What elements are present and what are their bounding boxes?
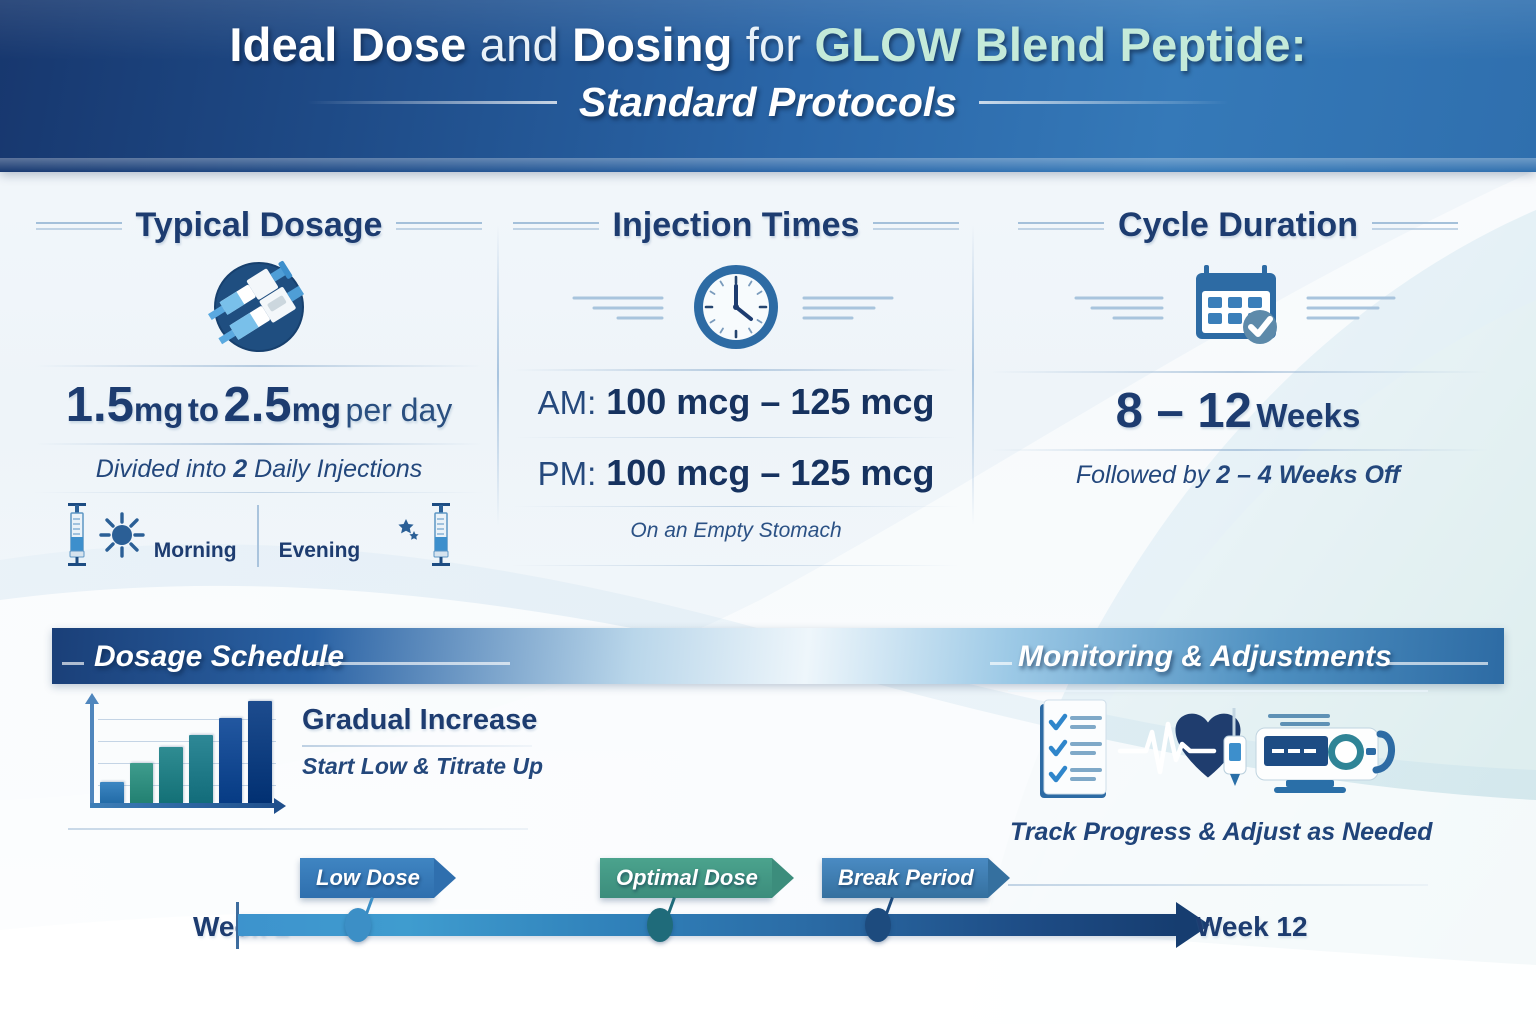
calendar-icon-row (988, 259, 1488, 355)
morning-group: Morning (50, 501, 251, 567)
bar (130, 763, 154, 804)
band-rule-far-left (62, 662, 84, 665)
cycle-duration-title: Cycle Duration (1118, 206, 1358, 245)
morning-evening-divider (257, 505, 259, 567)
title-block: Ideal Dose and Dosing for GLOW Blend Pep… (0, 20, 1536, 126)
main-title: Ideal Dose and Dosing for GLOW Blend Pep… (0, 20, 1536, 71)
evening-group: Evening (265, 501, 469, 567)
title-highlight: GLOW Blend Peptide: (815, 18, 1307, 71)
dosage-timeline: Week 1 Week 12 Low DoseOptimal DoseBreak… (0, 850, 1536, 970)
pm-label: PM: (538, 455, 597, 493)
gradual-increase-title: Gradual Increase (302, 704, 532, 737)
syringes-circle-icon (34, 259, 484, 355)
divider (34, 492, 484, 493)
heading-rule-left (1018, 222, 1104, 230)
syringe-icon (64, 501, 90, 567)
timeline-tag[interactable]: Break Period (822, 858, 988, 898)
dose-connector: to (188, 391, 219, 428)
bar (100, 782, 124, 804)
heading-rule-left (513, 222, 599, 230)
schedule-text-block: Gradual Increase Start Low & Titrate Up (302, 704, 532, 780)
timeline-tag[interactable]: Low Dose (300, 858, 434, 898)
dose-low-number: 1.5 (66, 378, 134, 432)
band-rule-left (310, 662, 510, 665)
speed-lines-left (566, 289, 676, 325)
schedule-underline (68, 828, 528, 830)
subtitle-rule-left (307, 101, 557, 104)
am-value: 100 mcg – 125 mcg (606, 381, 934, 423)
divider (512, 565, 960, 566)
timeline-dot[interactable] (647, 908, 673, 942)
title-part1: Ideal Dose (229, 18, 466, 71)
speed-lines-right (796, 289, 906, 325)
am-row: AM: 100 mcg – 125 mcg (512, 381, 960, 423)
timeline-dot[interactable] (345, 908, 371, 942)
pm-value: 100 mcg – 125 mcg (606, 452, 934, 494)
timeline-tag[interactable]: Optimal Dose (600, 858, 772, 898)
section-typical-dosage: Typical Dosage (34, 206, 484, 567)
morning-label: Morning (154, 539, 237, 567)
divider (988, 371, 1488, 373)
timeline-tag-arrow (434, 858, 456, 898)
checklist-icon (1040, 700, 1106, 798)
heading-rule-right (1372, 222, 1458, 230)
y-axis (90, 700, 94, 804)
timeline-tag-label: Low Dose (316, 865, 420, 891)
section-cycle-duration: Cycle Duration (988, 206, 1488, 490)
timeline-dot[interactable] (865, 908, 891, 942)
subtitle-rule-right (979, 101, 1229, 104)
dosage-bar-chart (72, 696, 282, 816)
band-rule-right (1388, 662, 1488, 665)
monitoring-panel: Track Progress & Adjust as Needed (1010, 690, 1490, 840)
sun-icon (98, 511, 146, 559)
heading-rule-right (873, 222, 959, 230)
monitoring-band-title: Monitoring & Adjustments (1018, 640, 1392, 674)
timeline-tag-label: Optimal Dose (616, 865, 758, 891)
typical-dosage-header: Typical Dosage (34, 206, 484, 245)
typical-dosage-title: Typical Dosage (136, 206, 383, 245)
schedule-divider (302, 745, 532, 747)
title-for: for (746, 18, 801, 71)
title-part2: Dosing (572, 18, 732, 71)
bar (189, 735, 213, 804)
dosage-schedule-panel: Gradual Increase Start Low & Titrate Up (52, 690, 532, 830)
divider (512, 369, 960, 371)
bar-series (100, 696, 272, 804)
divider (512, 437, 960, 438)
heading-rule-left (36, 222, 122, 230)
divided-note-post: Daily Injections (254, 455, 422, 483)
divider (512, 506, 960, 507)
subtitle: Standard Protocols (579, 79, 957, 126)
timeline-track[interactable] (238, 914, 1178, 936)
monitor-device-icon (1224, 708, 1392, 793)
injection-times-header: Injection Times (512, 206, 960, 245)
divided-note: Divided into 2 Daily Injections (34, 455, 484, 484)
subtitle-row: Standard Protocols (0, 79, 1536, 126)
title-and: and (480, 18, 559, 71)
speed-lines-right (1302, 290, 1406, 324)
start-low-subtitle: Start Low & Titrate Up (302, 753, 532, 780)
dose-high-number: 2.5 (223, 378, 291, 432)
cycle-range-number: 8 – 12 (1116, 384, 1252, 438)
divider (988, 449, 1488, 451)
section-injection-times: Injection Times (512, 206, 960, 574)
divided-note-number: 2 (233, 455, 247, 483)
speed-lines-left (1070, 290, 1174, 324)
pm-row: PM: 100 mcg – 125 mcg (512, 452, 960, 494)
column-divider-2 (972, 225, 974, 525)
bar (248, 701, 272, 804)
followed-by-value: 2 – 4 Weeks Off (1216, 461, 1400, 489)
syringe-icon (428, 501, 454, 567)
dose-per-day: per day (346, 392, 453, 428)
heading-rule-right (396, 222, 482, 230)
followed-by-pre: Followed by (1076, 461, 1209, 489)
bar (159, 747, 183, 804)
typical-dose-value: 1.5mg to 2.5mg per day (34, 377, 484, 433)
infographic-canvas: Ideal Dose and Dosing for GLOW Blend Pep… (0, 0, 1536, 1024)
moon-stars-icon (368, 511, 420, 559)
cycle-range-unit: Weeks (1256, 397, 1360, 434)
monitoring-subtitle: Track Progress & Adjust as Needed (1010, 818, 1490, 847)
x-axis (90, 803, 276, 808)
clock-icon-row (512, 259, 960, 355)
divider (34, 443, 484, 445)
timeline-end-label: Week 12 (1196, 911, 1308, 943)
timeline-tag-arrow (988, 858, 1010, 898)
column-divider-1 (497, 225, 499, 525)
timeline-tag-label: Break Period (838, 865, 974, 891)
x-axis-arrow (274, 798, 286, 814)
empty-stomach-note: On an Empty Stomach (512, 519, 960, 543)
dose-high-unit: mg (292, 391, 342, 428)
monitoring-icons (1018, 694, 1398, 804)
followed-by-note: Followed by 2 – 4 Weeks Off (988, 461, 1488, 490)
header-banner: Ideal Dose and Dosing for GLOW Blend Pep… (0, 0, 1536, 172)
timeline-tag-arrow (772, 858, 794, 898)
injection-times-title: Injection Times (613, 206, 860, 245)
divider (34, 365, 484, 367)
dose-low-unit: mg (134, 391, 184, 428)
band-rule-mid (990, 662, 1012, 665)
am-label: AM: (538, 384, 597, 422)
calendar-check-icon (1190, 261, 1286, 353)
cycle-duration-header: Cycle Duration (988, 206, 1488, 245)
divided-note-pre: Divided into (96, 455, 227, 483)
heart-ecg-icon (1120, 714, 1241, 778)
cycle-range: 8 – 12 Weeks (988, 383, 1488, 439)
morning-evening-strip: Morning Evening (34, 501, 484, 567)
dosage-schedule-band-title: Dosage Schedule (94, 640, 344, 674)
clock-icon (690, 261, 782, 353)
bar (219, 718, 243, 804)
evening-label: Evening (279, 539, 361, 567)
